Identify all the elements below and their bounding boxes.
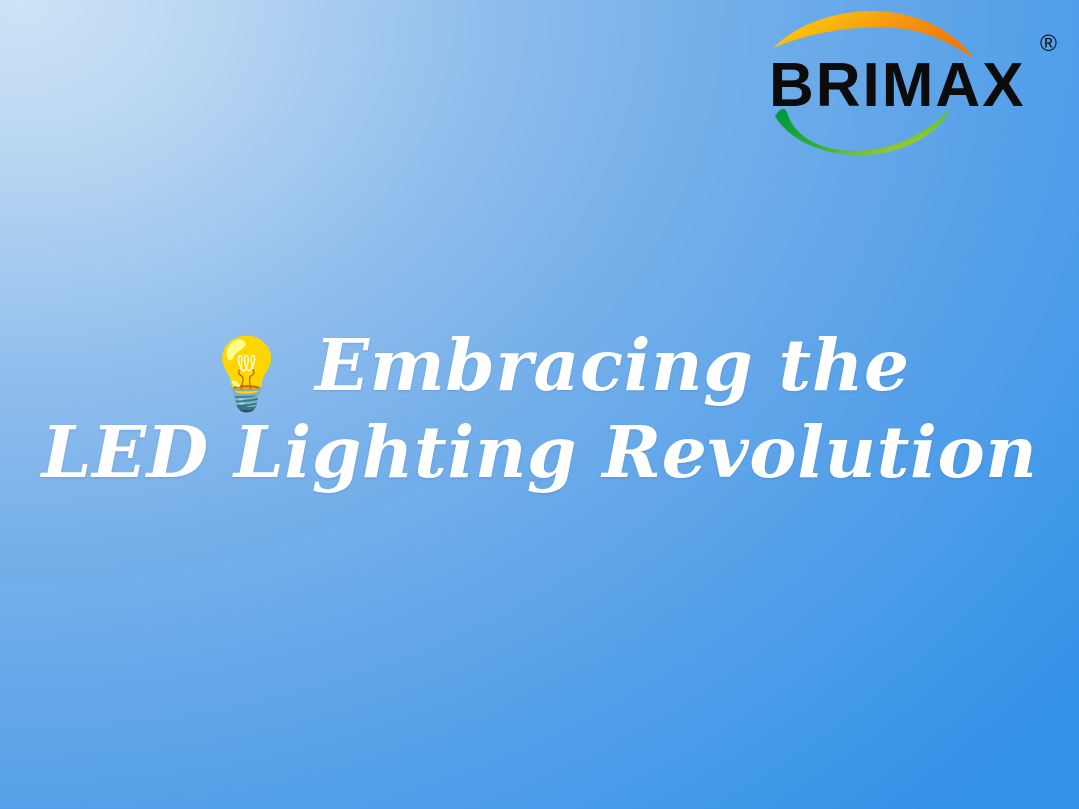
title-line-one: 💡Embracing the bbox=[0, 330, 1079, 409]
light-bulb-emoji-icon: 💡 bbox=[203, 339, 291, 409]
brimax-logo: BRIMAX ® bbox=[767, 8, 1067, 153]
title-line-one-text: Embracing the bbox=[315, 323, 910, 407]
slide-title: 💡Embracing the LED Lighting Revolution bbox=[0, 330, 1079, 488]
presentation-slide: BRIMAX ® 💡Embracing the LED Lighting Rev… bbox=[0, 0, 1079, 809]
registered-mark-icon: ® bbox=[1040, 30, 1057, 56]
title-line-two: LED Lighting Revolution bbox=[0, 417, 1079, 488]
brimax-wordmark: BRIMAX bbox=[769, 51, 1026, 120]
